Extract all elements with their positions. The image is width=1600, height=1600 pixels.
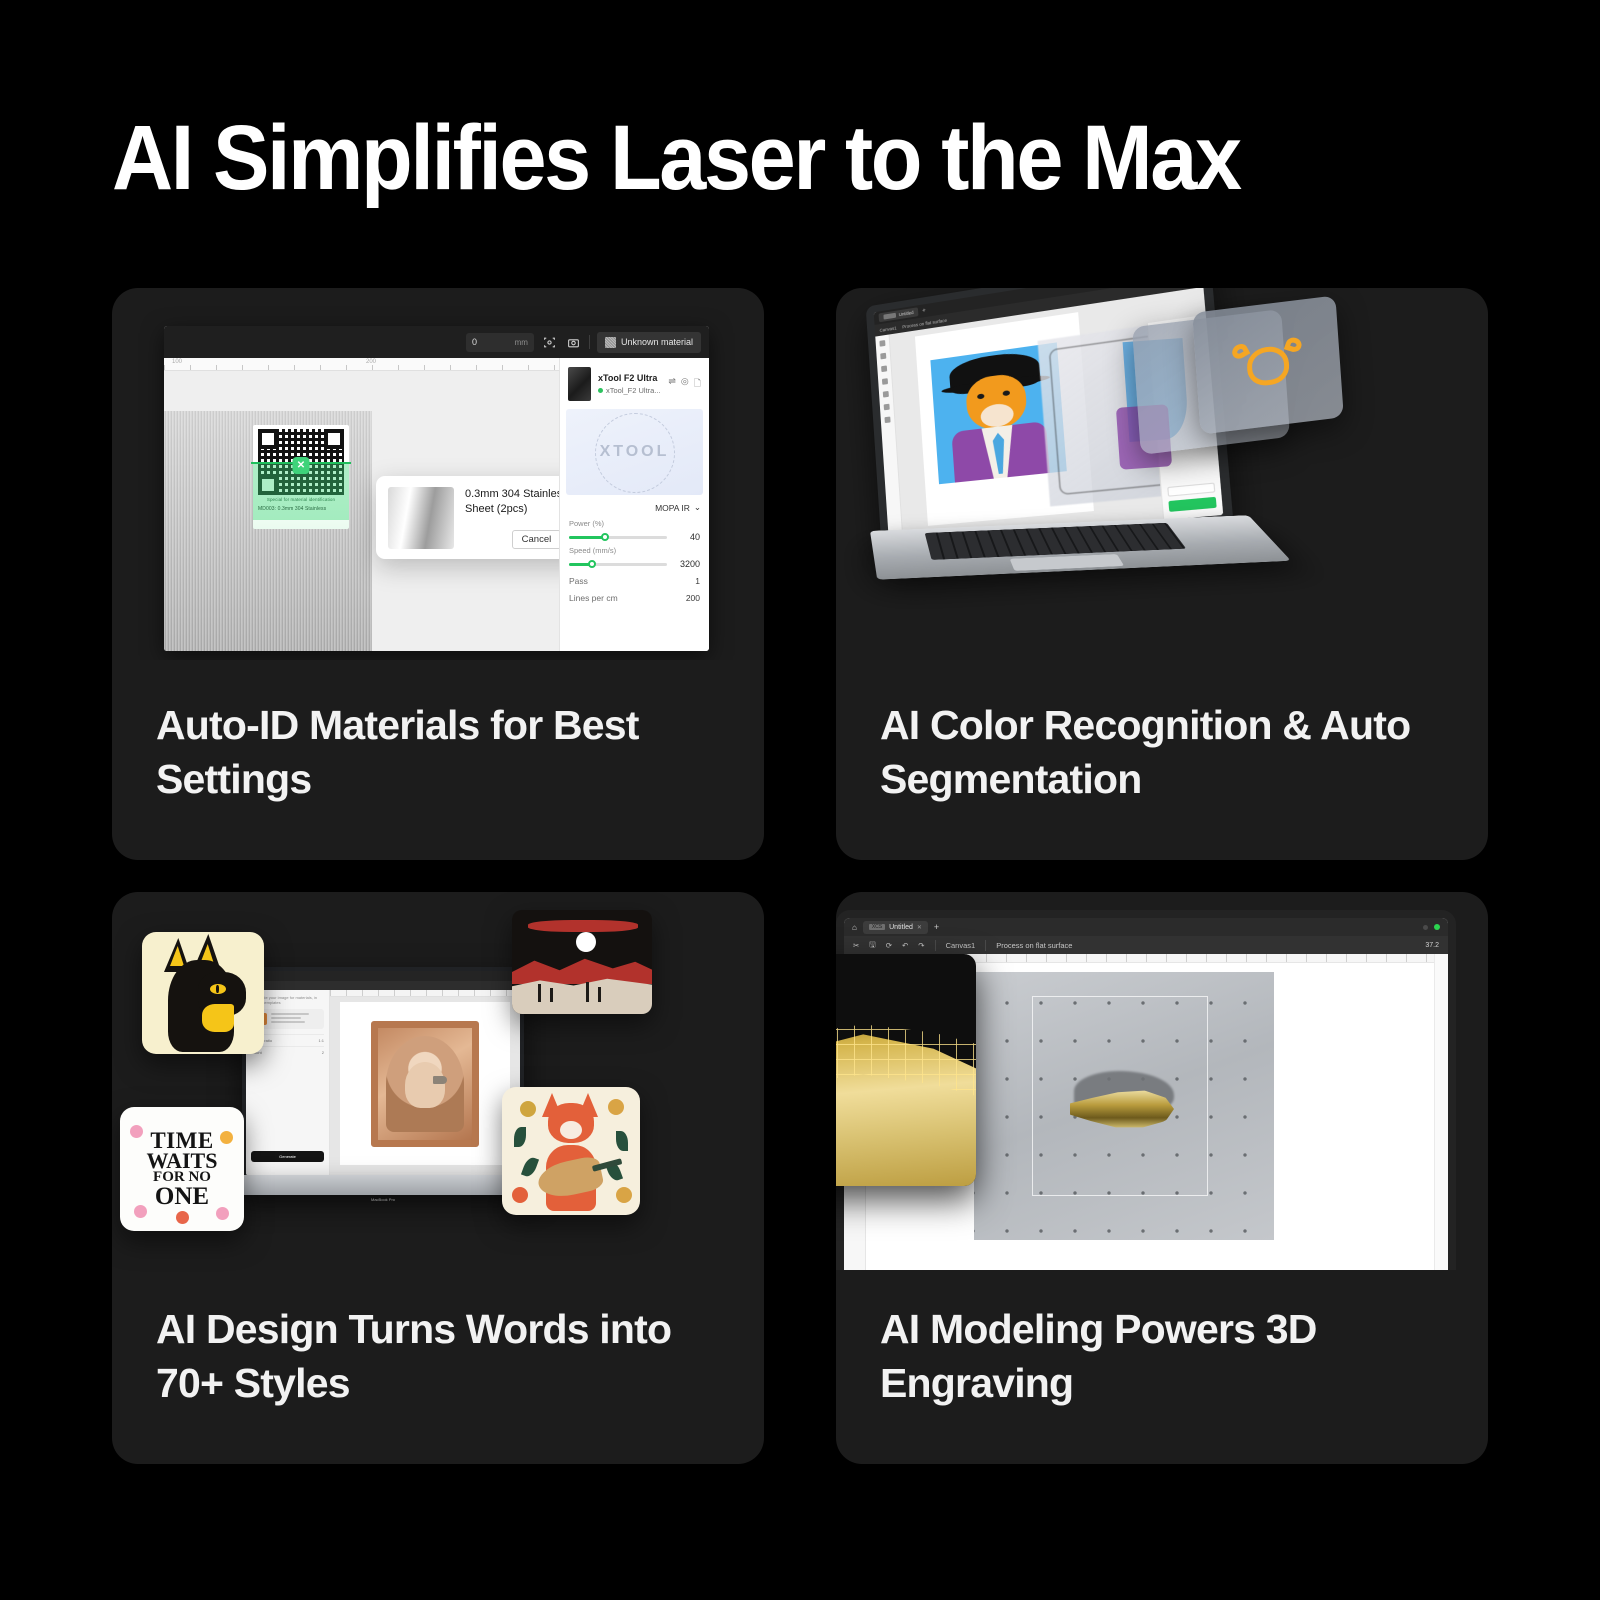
indicator-dot-icon bbox=[1423, 925, 1428, 930]
material-confirm-dialog[interactable]: 0.3mm 304 Stainless Steel Sheet (2pcs) C… bbox=[376, 476, 559, 559]
device-row[interactable]: xTool F2 Ultra xTool_F2 Ultra... ⇌ ◎ bbox=[560, 358, 709, 409]
toolbar-item-canvas[interactable]: Canvas1 bbox=[946, 941, 976, 950]
right-panel[interactable] bbox=[1434, 954, 1448, 1270]
settings-tool-icon[interactable] bbox=[884, 416, 890, 423]
art-sample-cat bbox=[142, 932, 264, 1054]
toolbar-item-process[interactable]: Process on flat surface bbox=[996, 941, 1072, 950]
pen-tool-icon[interactable] bbox=[882, 378, 888, 385]
horizontal-ruler bbox=[330, 990, 520, 997]
generate-button[interactable]: Generate bbox=[251, 1151, 324, 1162]
3d-surface-preview: Bless bbox=[836, 954, 976, 1186]
image-tool-icon[interactable] bbox=[879, 340, 885, 347]
lettering-text: TIME WAITS FOR NO ONE bbox=[120, 1107, 244, 1231]
xtool-brand-wordmark: XTOOL bbox=[600, 443, 670, 461]
ruler-label: 100 bbox=[172, 359, 182, 365]
undo-icon[interactable]: ↶ bbox=[902, 941, 908, 950]
speed-slider[interactable] bbox=[569, 563, 667, 566]
material-scan-icon[interactable] bbox=[541, 334, 558, 351]
brass-vase-object[interactable] bbox=[1070, 1079, 1178, 1133]
offset-value: 0 bbox=[472, 337, 477, 347]
pass-label: Pass bbox=[569, 576, 588, 586]
canvas-sheet bbox=[340, 1002, 510, 1165]
cut-tool-icon[interactable]: ✂ bbox=[853, 941, 859, 950]
app-tab-label: Untitled bbox=[889, 924, 913, 931]
art-sample-fox bbox=[502, 1087, 640, 1215]
horizontal-ruler: 100 200 bbox=[164, 358, 559, 371]
power-label: Power (%) bbox=[569, 519, 700, 528]
settings-gear-icon[interactable]: ◎ bbox=[681, 376, 689, 392]
card-media-ai-design: Generate your image for materials, in te… bbox=[112, 892, 764, 1282]
poster-root: AI Simplifies Laser to the Max 0 mm bbox=[0, 0, 1600, 1600]
primary-action-button[interactable] bbox=[1168, 497, 1216, 512]
new-tab-icon[interactable]: + bbox=[934, 922, 939, 932]
lines-per-cm-label: Lines per cm bbox=[569, 593, 618, 603]
count-row[interactable]: Count 2 bbox=[251, 1046, 324, 1058]
sync-icon[interactable]: ⟳ bbox=[886, 941, 892, 950]
toolbar-divider bbox=[935, 940, 936, 951]
secondary-action-button[interactable] bbox=[1167, 483, 1215, 497]
toolbar-divider bbox=[985, 940, 986, 951]
qr-code-icon: ✕ bbox=[258, 429, 344, 495]
trackpad bbox=[1010, 554, 1124, 571]
zoom-level[interactable]: 37.2 bbox=[1425, 942, 1439, 949]
toolbar-item-canvas[interactable]: Canvas1 bbox=[879, 325, 896, 332]
home-icon[interactable]: ⌂ bbox=[852, 923, 857, 932]
material-id-sticker: ✕ Special for material identification MD… bbox=[253, 425, 349, 529]
feature-card-3d-modeling[interactable]: ⌂ XCS Untitled ✕ + bbox=[836, 892, 1488, 1464]
card-media-color-recognition: Untitled + Canvas1 Process on flat surfa… bbox=[836, 288, 1488, 660]
process-mode-row[interactable]: MOPA IR ⌄ bbox=[560, 495, 709, 515]
app-badge-label: XCS bbox=[869, 924, 885, 930]
shape-tool-icon[interactable] bbox=[881, 365, 887, 372]
macbook-screen[interactable]: Generate your image for materials, in te… bbox=[246, 971, 520, 1175]
offset-input[interactable]: 0 mm bbox=[466, 333, 534, 352]
lettering-line: ONE bbox=[155, 1185, 209, 1208]
app-toolbar[interactable]: ✂ 🖫 ⟳ ↶ ↷ Canvas1 Process on flat surfac… bbox=[844, 936, 1448, 954]
cancel-button[interactable]: Cancel bbox=[512, 530, 559, 549]
stainless-steel-plate: ✕ Special for material identification MD… bbox=[164, 411, 372, 651]
honeycomb-bed bbox=[974, 972, 1274, 1240]
canvas-page bbox=[915, 312, 1094, 526]
device-name: xTool F2 Ultra bbox=[598, 373, 661, 383]
card-title-auto-id: Auto-ID Materials for Best Settings bbox=[156, 698, 734, 806]
feature-card-auto-id[interactable]: 0 mm bbox=[112, 288, 764, 860]
dialog-material-name: 0.3mm 304 Stainless Steel Sheet (2pcs) bbox=[465, 487, 559, 517]
power-slider[interactable] bbox=[569, 536, 667, 539]
process-mode-value: MOPA IR bbox=[655, 503, 690, 513]
offset-unit: mm bbox=[515, 338, 528, 347]
speed-value: 3200 bbox=[674, 559, 700, 569]
toolbar-divider bbox=[589, 335, 590, 349]
app-tab-bar[interactable] bbox=[246, 971, 520, 981]
text-tool-icon[interactable] bbox=[880, 353, 886, 360]
device-connection-status: xTool_F2 Ultra... bbox=[598, 386, 661, 395]
art-sample-desert bbox=[512, 910, 652, 1014]
card-media-auto-id: 0 mm bbox=[112, 288, 764, 660]
card-title-ai-design: AI Design Turns Words into 70+ Styles bbox=[156, 1302, 734, 1410]
save-icon[interactable]: 🖫 bbox=[869, 939, 875, 952]
draw-tool-icon[interactable] bbox=[883, 391, 889, 398]
design-canvas[interactable] bbox=[330, 990, 520, 1175]
macbook-lid: Generate your image for materials, in te… bbox=[242, 967, 524, 1179]
power-setting[interactable]: Power (%) 40 bbox=[560, 515, 709, 542]
layers-tool-icon[interactable] bbox=[884, 404, 890, 411]
qr-eye bbox=[258, 429, 278, 449]
prompt-text-lines bbox=[271, 1013, 309, 1025]
eagle-head-shape bbox=[405, 1062, 445, 1108]
eagle-relief-artwork bbox=[371, 1021, 479, 1147]
chevron-down-icon[interactable]: ⌄ bbox=[694, 502, 701, 513]
app-toolbar[interactable] bbox=[246, 981, 520, 990]
macbook-model-badge: MacBook Pro bbox=[371, 1197, 395, 1202]
pass-value: 1 bbox=[695, 576, 700, 586]
lines-per-cm-value: 200 bbox=[686, 593, 700, 603]
swap-device-icon[interactable]: ⇌ bbox=[668, 376, 676, 392]
speed-setting[interactable]: Speed (mm/s) 3200 bbox=[560, 542, 709, 569]
close-icon[interactable]: ✕ bbox=[917, 924, 922, 931]
status-dot-icon bbox=[1434, 924, 1440, 930]
qr-eye bbox=[324, 429, 344, 449]
tiger-face-outline-icon bbox=[1227, 334, 1308, 395]
copy-icon[interactable]: 🗋 bbox=[694, 376, 701, 392]
macbook-base: MacBook Pro bbox=[230, 1175, 536, 1195]
app-body: 100 200 bbox=[164, 358, 709, 651]
camera-icon[interactable] bbox=[565, 334, 582, 351]
app-badge-icon bbox=[883, 313, 896, 320]
card-title-3d-modeling: AI Modeling Powers 3D Engraving bbox=[880, 1302, 1458, 1410]
canvas-column[interactable]: 100 200 bbox=[164, 358, 559, 651]
macbook-device: Generate your image for materials, in te… bbox=[242, 967, 542, 1229]
lines-per-cm-row[interactable]: Lines per cm 200 bbox=[560, 586, 709, 603]
page-title: AI Simplifies Laser to the Max bbox=[112, 112, 1400, 204]
lettering-line: WAITS bbox=[147, 1151, 218, 1171]
material-swatch-icon bbox=[605, 337, 616, 348]
new-tab-icon[interactable]: + bbox=[922, 308, 926, 314]
status-dot-icon bbox=[598, 388, 603, 393]
app-tab-label: Untitled bbox=[899, 310, 914, 317]
feature-card-grid: 0 mm bbox=[112, 288, 1488, 1504]
xtool-logo-icon: ✕ bbox=[293, 457, 310, 474]
material-chip[interactable]: Unknown material bbox=[597, 332, 701, 353]
count-value: 2 bbox=[322, 1050, 324, 1055]
app-toolbar[interactable]: 0 mm bbox=[164, 326, 709, 358]
card-media-3d-modeling: ⌂ XCS Untitled ✕ + bbox=[836, 892, 1488, 1282]
speed-label: Speed (mm/s) bbox=[569, 546, 700, 555]
feature-card-ai-design[interactable]: Generate your image for materials, in te… bbox=[112, 892, 764, 1464]
xtool-app-window[interactable]: 0 mm bbox=[164, 326, 709, 651]
material-preview-box: XTOOL bbox=[566, 409, 703, 495]
app-tab-bar[interactable]: ⌂ XCS Untitled ✕ + bbox=[844, 918, 1448, 936]
aspect-ratio-value: 1:1 bbox=[318, 1038, 324, 1043]
device-thumbnail-icon bbox=[568, 367, 591, 401]
ruler-label: 200 bbox=[366, 359, 376, 365]
keyboard bbox=[925, 523, 1187, 560]
app-workspace: Generate your image for materials, in te… bbox=[246, 990, 520, 1175]
feature-card-color-recognition[interactable]: Untitled + Canvas1 Process on flat surfa… bbox=[836, 288, 1488, 860]
material-chip-label: Unknown material bbox=[621, 337, 693, 347]
art-sample-lettering: TIME WAITS FOR NO ONE bbox=[120, 1107, 244, 1231]
device-connection-label: xTool_F2 Ultra... bbox=[606, 386, 661, 395]
power-value: 40 bbox=[674, 532, 700, 542]
pass-row[interactable]: Pass 1 bbox=[560, 569, 709, 586]
separation-layer-orange-tiger bbox=[1192, 295, 1344, 434]
redo-icon[interactable]: ↷ bbox=[918, 941, 924, 950]
material-thumbnail bbox=[388, 487, 454, 549]
app-tab[interactable]: XCS Untitled ✕ bbox=[863, 921, 928, 934]
settings-panel[interactable]: › xTool F2 Ultra xTool_F2 Ultra... bbox=[559, 358, 709, 651]
card-title-color-recognition: AI Color Recognition & Auto Segmentation bbox=[880, 698, 1458, 806]
